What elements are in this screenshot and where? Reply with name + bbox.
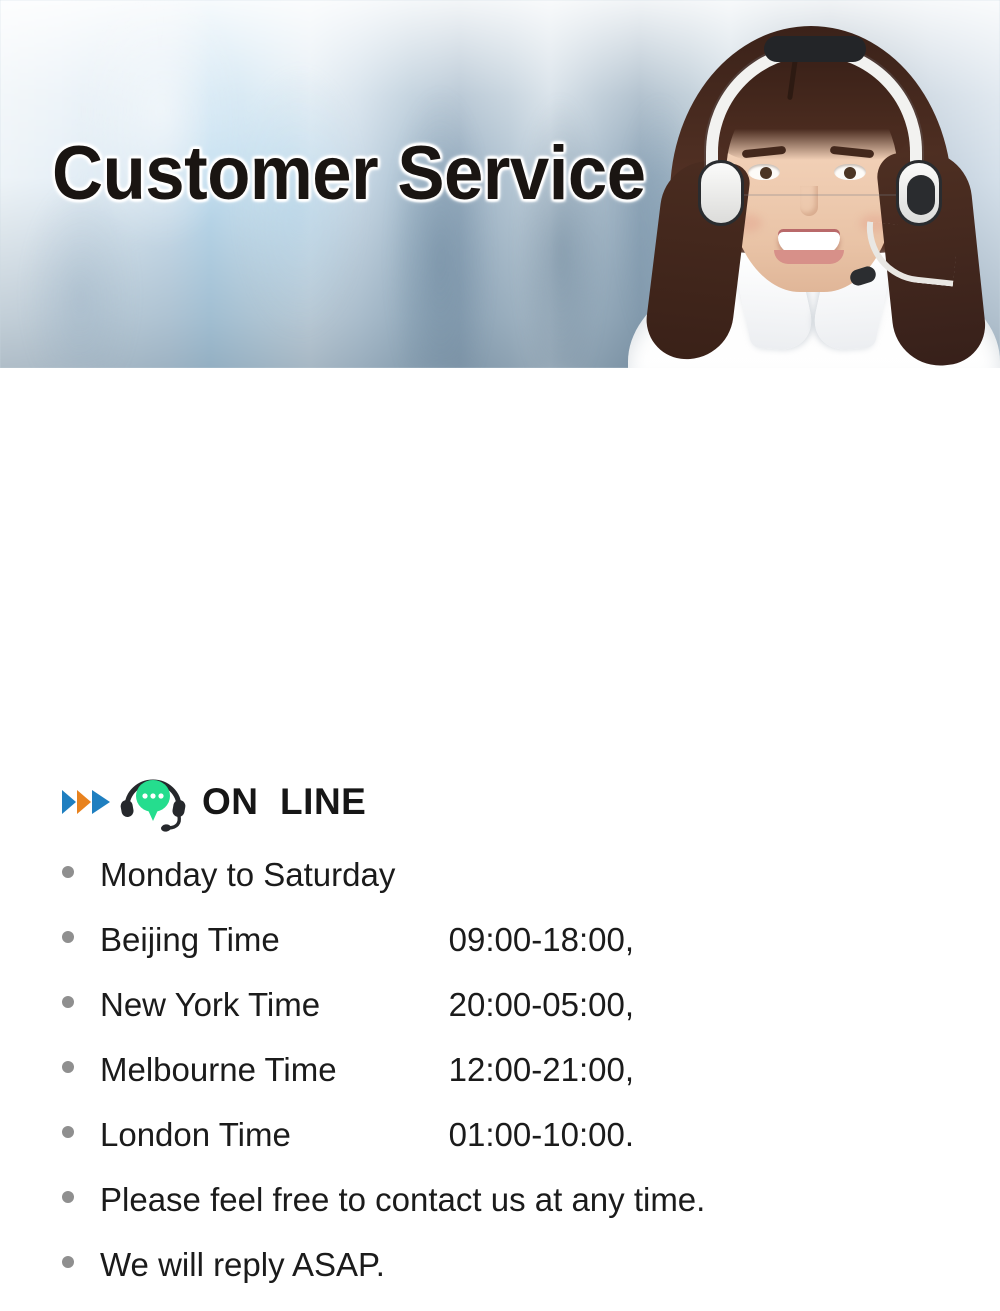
timezone-row: New York Time 20:00-05:00, xyxy=(100,986,634,1024)
bullet-dot-icon xyxy=(62,866,74,878)
list-item: Beijing Time 09:00-18:00, xyxy=(62,921,962,986)
list-item-text: Please feel free to contact us at any ti… xyxy=(100,1181,705,1219)
bullet-dot-icon xyxy=(62,1061,74,1073)
bullet-dot-icon xyxy=(62,1126,74,1138)
page-title: Customer Service xyxy=(52,136,646,212)
timezone-label: Melbourne Time xyxy=(100,1051,372,1089)
timezone-hours: 09:00-18:00, xyxy=(372,921,634,959)
bullet-dot-icon xyxy=(62,1191,74,1203)
timezone-row: Beijing Time 09:00-18:00, xyxy=(100,921,634,959)
list-item: Melbourne Time 12:00-21:00, xyxy=(62,1051,962,1116)
headset-band-pad-icon xyxy=(764,36,866,62)
triple-chevron-right-icon xyxy=(62,787,114,817)
list-item: London Time 01:00-10:00. xyxy=(62,1116,962,1181)
list-item-text: Monday to Saturday xyxy=(100,856,395,894)
bullet-dot-icon xyxy=(62,996,74,1008)
headset-earcup-right-icon xyxy=(896,160,942,226)
timezone-label: New York Time xyxy=(100,986,372,1024)
list-item: We will reply ASAP. xyxy=(62,1246,962,1311)
timezone-hours: 12:00-21:00, xyxy=(372,1051,634,1089)
headset-chat-bubble-icon xyxy=(116,769,190,835)
list-item: Please feel free to contact us at any ti… xyxy=(62,1181,962,1246)
agent-lower-lip xyxy=(774,250,844,264)
list-item-text: We will reply ASAP. xyxy=(100,1246,385,1284)
bullet-dot-icon xyxy=(62,931,74,943)
service-hours-list: Monday to Saturday Beijing Time 09:00-18… xyxy=(62,856,962,1311)
agent-photo xyxy=(614,0,1000,368)
timezone-row: London Time 01:00-10:00. xyxy=(100,1116,634,1154)
customer-service-page: Customer Service xyxy=(0,0,1000,1000)
online-status-row: ON LINE xyxy=(62,770,366,834)
timezone-label: London Time xyxy=(100,1116,372,1154)
timezone-hours: 20:00-05:00, xyxy=(372,986,634,1024)
hero-banner: Customer Service xyxy=(0,0,1000,368)
list-item: New York Time 20:00-05:00, xyxy=(62,986,962,1051)
timezone-hours: 01:00-10:00. xyxy=(372,1116,634,1154)
online-status-label: ON LINE xyxy=(202,781,366,823)
timezone-label: Beijing Time xyxy=(100,921,372,959)
timezone-row: Melbourne Time 12:00-21:00, xyxy=(100,1051,634,1089)
headset-earcup-left-icon xyxy=(698,160,744,226)
bullet-dot-icon xyxy=(62,1256,74,1268)
list-item: Monday to Saturday xyxy=(62,856,962,921)
